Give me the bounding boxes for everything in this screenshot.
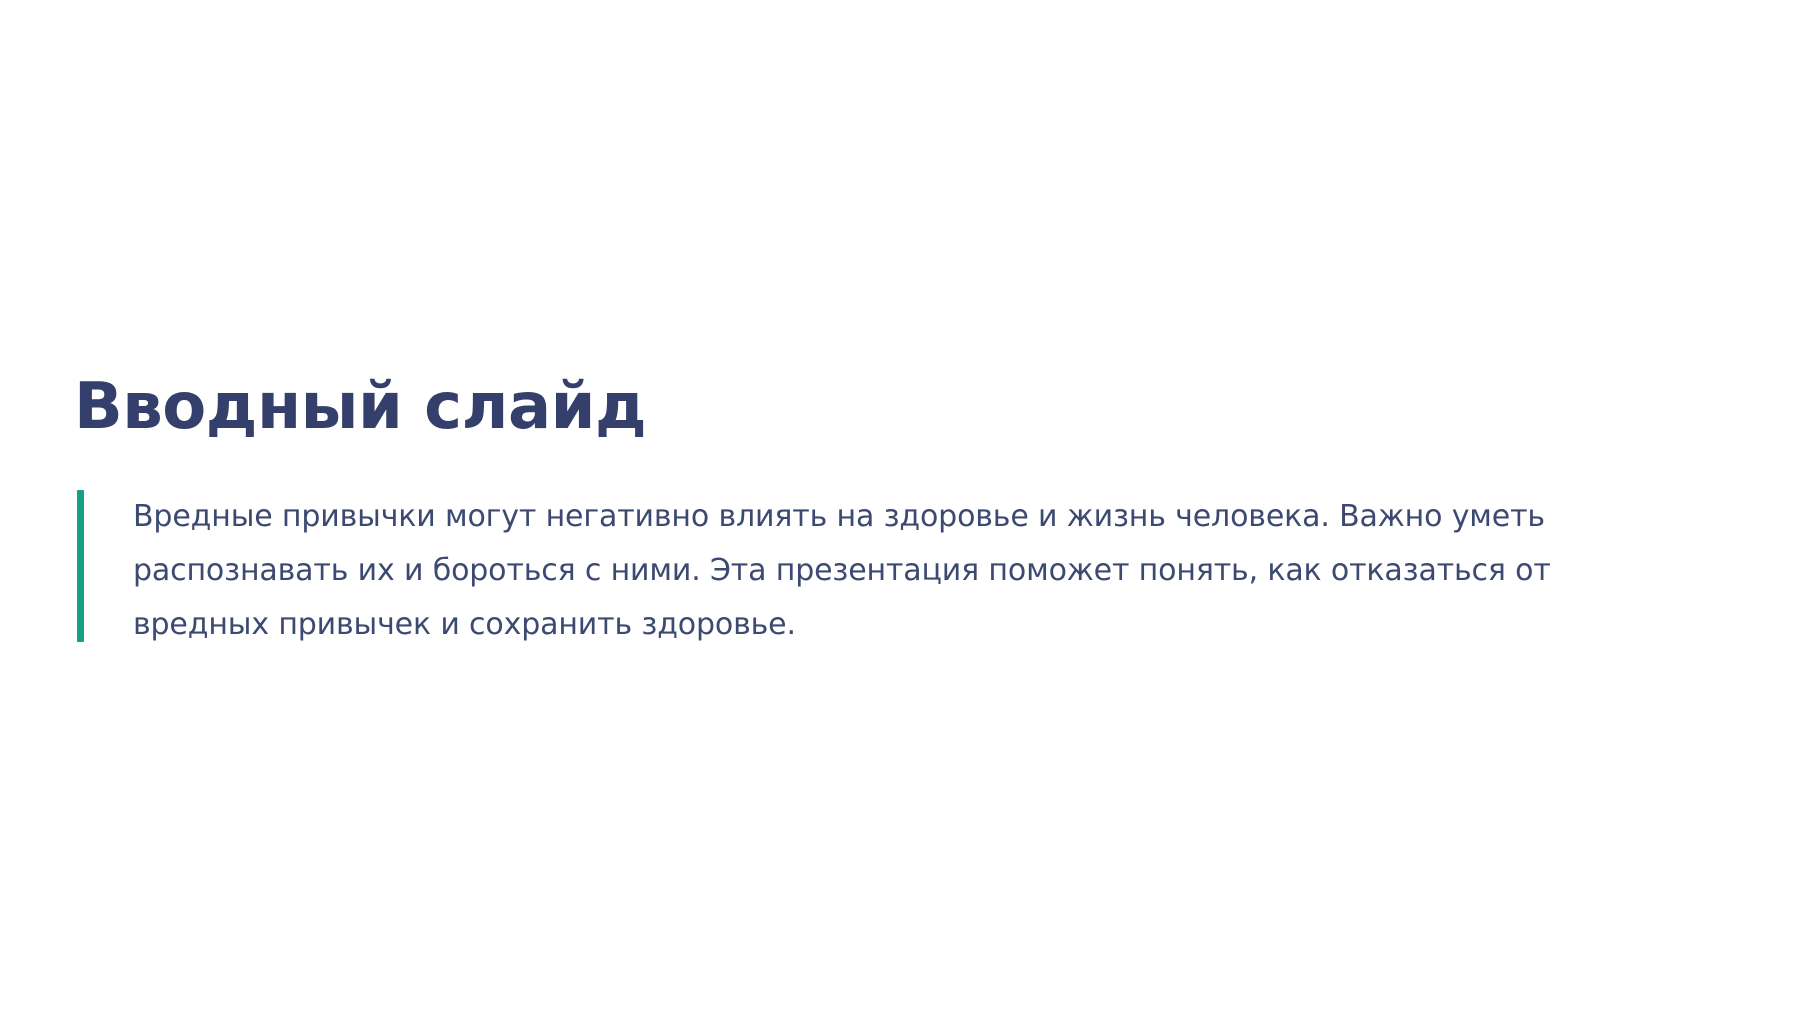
page-title: Вводный слайд xyxy=(74,369,646,445)
presentation-slide: Вводный слайд Вредные привычки могут нег… xyxy=(0,0,1800,1013)
body-paragraph: Вредные привычки могут негативно влиять … xyxy=(84,490,1677,652)
accent-bar xyxy=(77,490,84,642)
body-callout: Вредные привычки могут негативно влиять … xyxy=(77,490,1677,652)
